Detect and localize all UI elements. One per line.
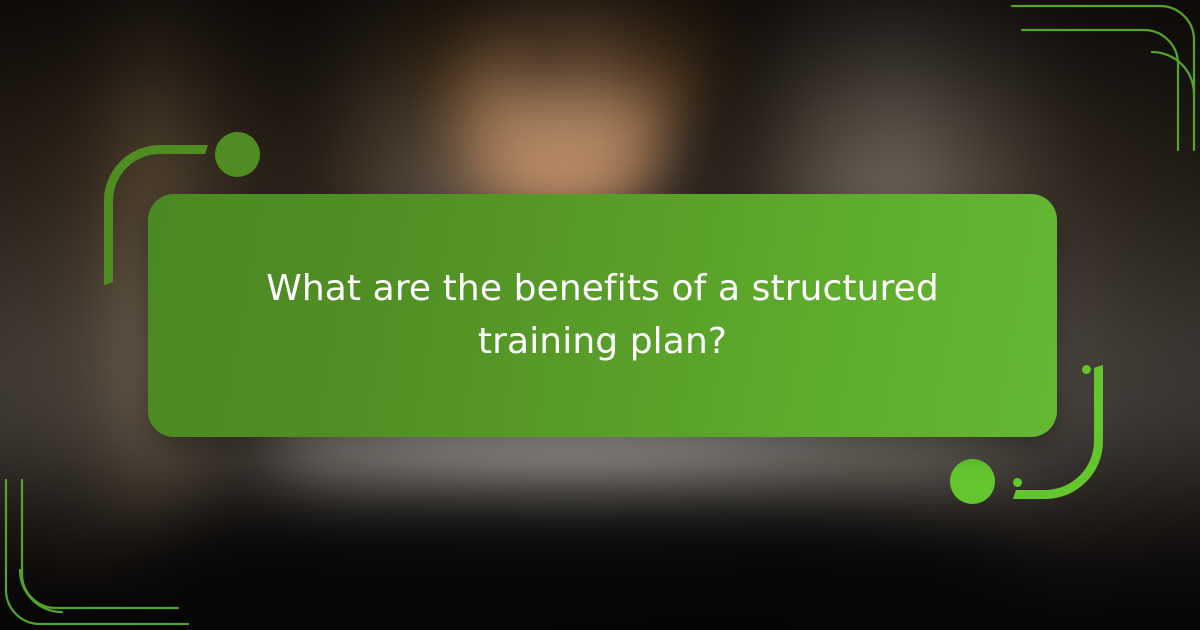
bracket-top-left-end-cap (187, 145, 196, 154)
bracket-bottom-right-end-cap (1013, 478, 1022, 487)
question-text: What are the benefits of a structured tr… (208, 263, 998, 369)
dot-top-left (215, 132, 260, 177)
bracket-bottom-right-start-cap (1082, 365, 1091, 374)
share-card-canvas: What are the benefits of a structured tr… (0, 0, 1200, 630)
question-card: What are the benefits of a structured tr… (148, 194, 1057, 437)
dot-bottom-right (950, 459, 995, 504)
bracket-top-left-start-cap (104, 264, 113, 273)
